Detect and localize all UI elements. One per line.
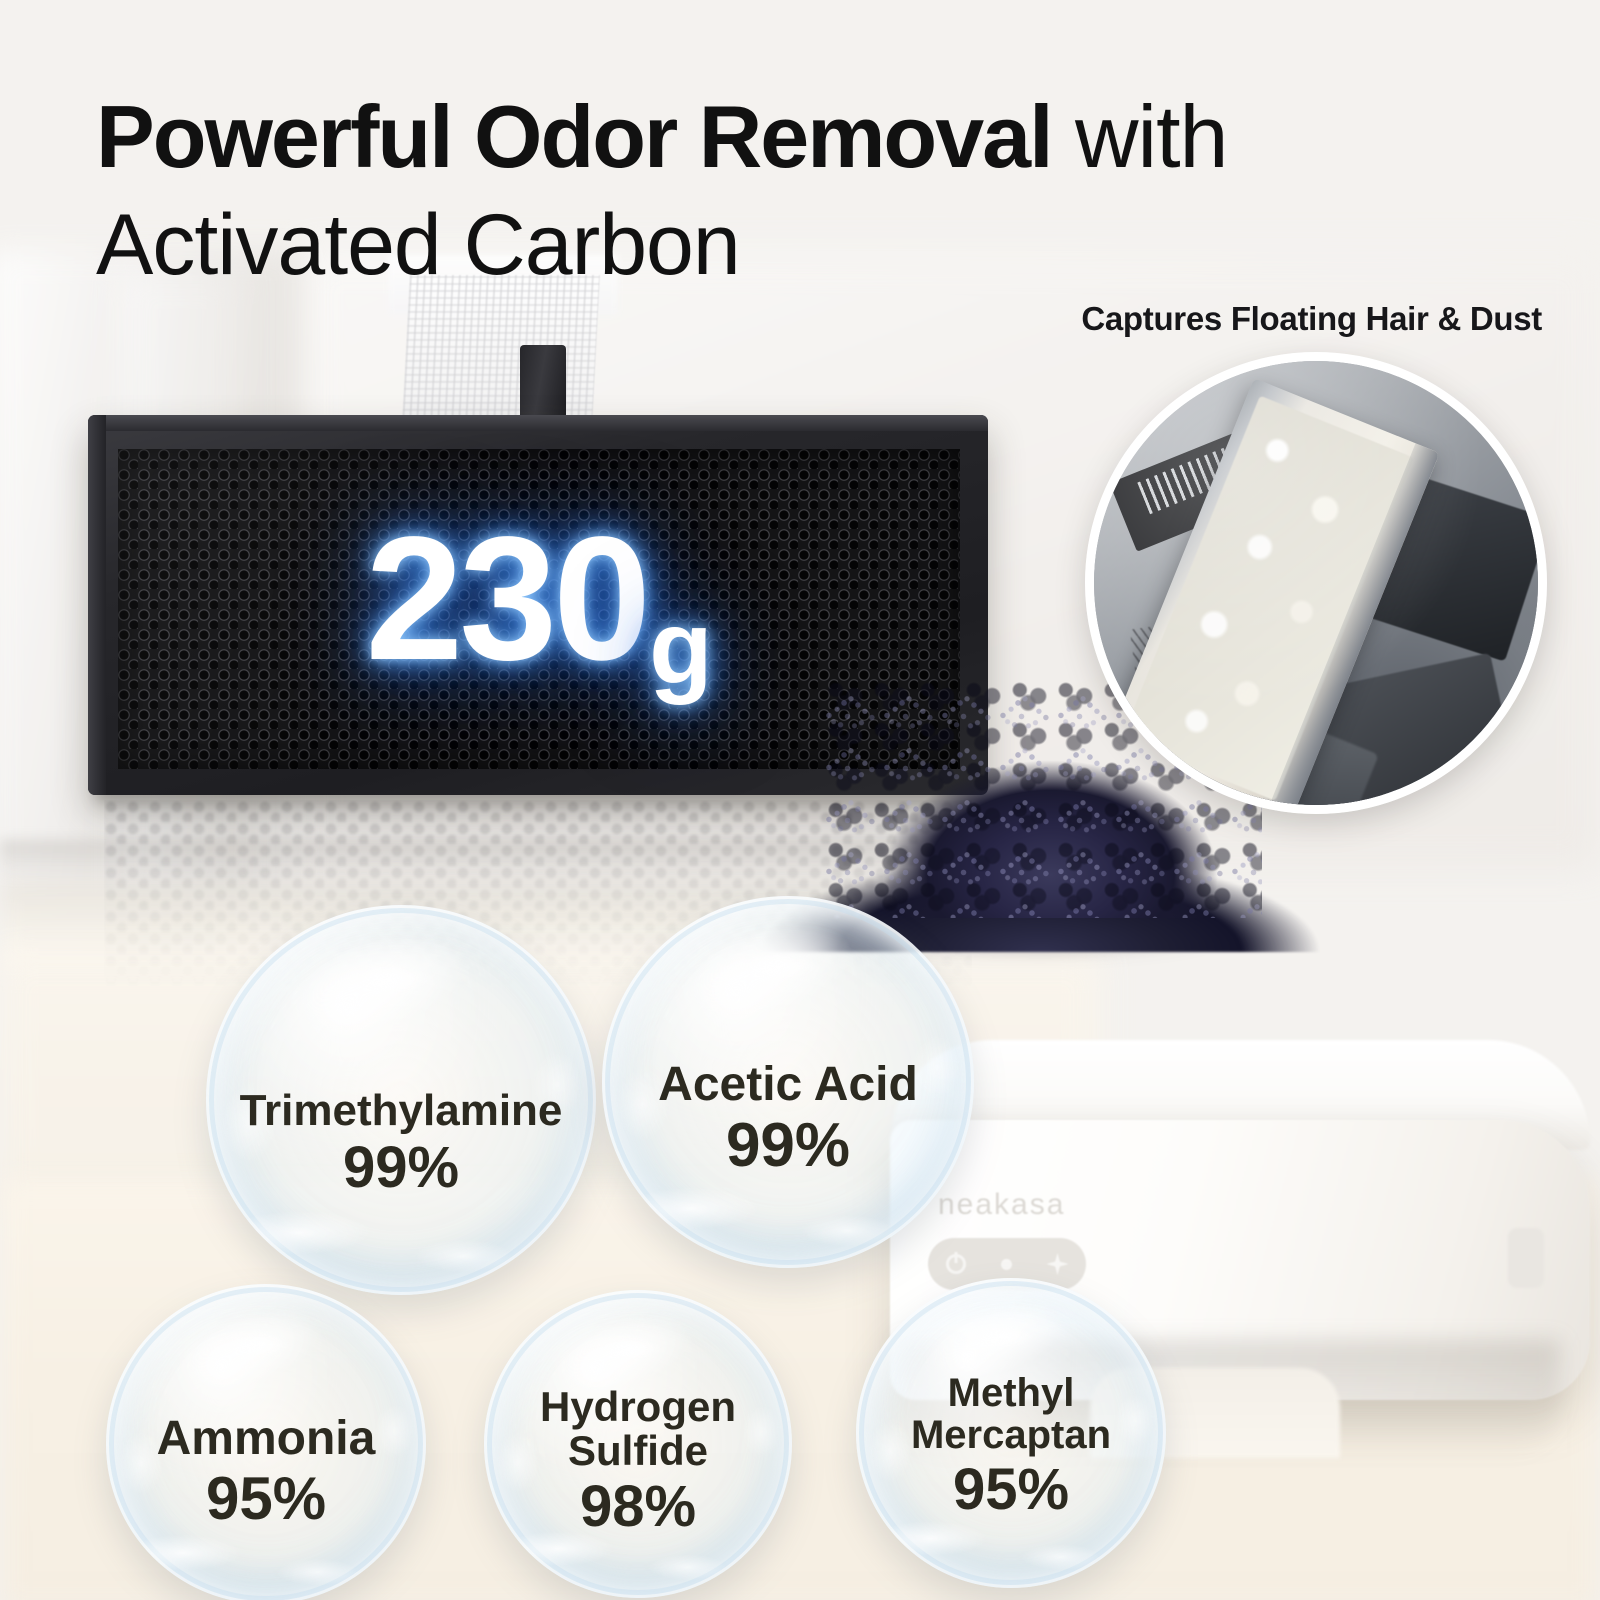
filter-pull-tab-handle bbox=[520, 345, 566, 423]
inset-light-glow bbox=[1094, 361, 1538, 805]
filter-mesh-fabric bbox=[402, 275, 600, 425]
odor-name: Acetic Acid bbox=[658, 1060, 918, 1110]
odor-name: Ammonia bbox=[157, 1414, 376, 1464]
headline-line-2: Activated Carbon bbox=[96, 202, 1516, 290]
odor-percent: 99% bbox=[343, 1138, 459, 1198]
product-feature-graphic: neakasa Powerful Odor Removal with Activ… bbox=[0, 0, 1600, 1600]
odor-name: HydrogenSulfide bbox=[540, 1385, 736, 1472]
hair-dust-inset-photo bbox=[1085, 352, 1547, 814]
device-brand-label: neakasa bbox=[938, 1188, 1065, 1222]
indicator-dot-icon bbox=[1001, 1259, 1012, 1270]
device-side-notch bbox=[1508, 1228, 1544, 1288]
odor-bubble-methyl-mercaptan: MethylMercaptan 95% bbox=[856, 1278, 1166, 1588]
filter-frame-left-bevel bbox=[88, 415, 106, 795]
odor-percent: 98% bbox=[580, 1477, 696, 1537]
odor-percent: 95% bbox=[206, 1468, 326, 1530]
odor-bubble-trimethylamine: Trimethylamine 99% bbox=[206, 905, 596, 1295]
headline-line-1: Powerful Odor Removal with bbox=[96, 92, 1516, 182]
odor-name: Trimethylamine bbox=[240, 1088, 563, 1134]
odor-bubble-ammonia: Ammonia 95% bbox=[106, 1284, 426, 1600]
odor-percent: 99% bbox=[726, 1114, 850, 1178]
odor-name: MethylMercaptan bbox=[911, 1373, 1111, 1456]
odor-bubble-acetic-acid: Acetic Acid 99% bbox=[602, 896, 974, 1268]
headline: Powerful Odor Removal with Activated Car… bbox=[96, 92, 1516, 289]
odor-percent: 95% bbox=[953, 1460, 1069, 1520]
filter-frame-top-bevel bbox=[88, 415, 988, 431]
odor-bubble-hydrogen-sulfide: HydrogenSulfide 98% bbox=[484, 1290, 792, 1598]
hair-dust-caption: Captures Floating Hair & Dust bbox=[1081, 300, 1542, 338]
headline-bold-part: Powerful Odor Removal bbox=[96, 87, 1052, 186]
sparkle-icon bbox=[1047, 1253, 1069, 1275]
power-icon bbox=[946, 1254, 966, 1274]
headline-light-part: with bbox=[1052, 87, 1228, 186]
